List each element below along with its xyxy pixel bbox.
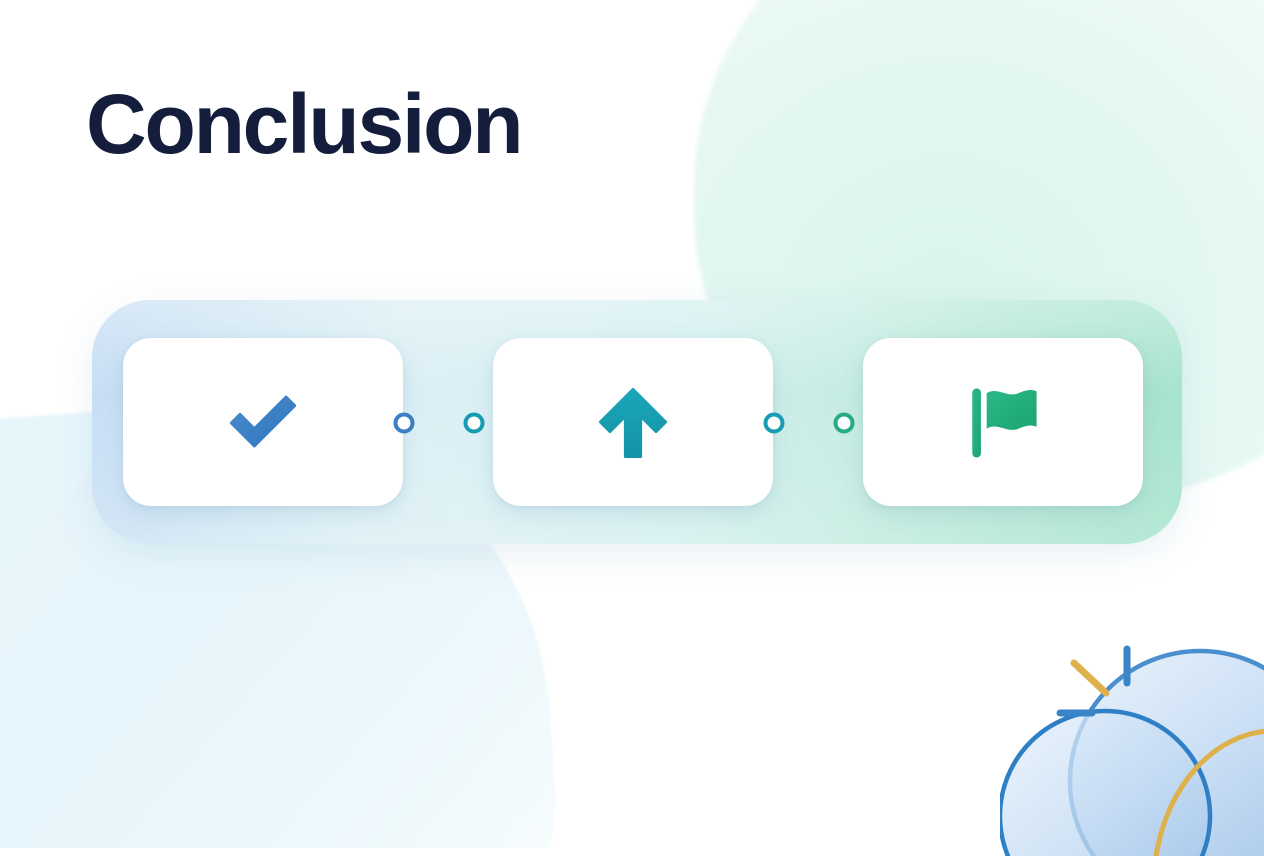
arrow-up-icon (585, 374, 681, 470)
step-card-arrow-up[interactable] (493, 338, 773, 506)
flag-icon (955, 374, 1051, 470)
spark-diagonal-gold-icon (1074, 663, 1106, 693)
connector-step2-step3 (762, 408, 856, 438)
checkmark-icon (215, 374, 311, 470)
step-card-flag[interactable] (863, 338, 1143, 506)
step-card-checkmark[interactable] (123, 338, 403, 506)
connector-step1-step2 (392, 408, 486, 438)
page-title: Conclusion (86, 82, 521, 166)
conclusion-steps-panel (92, 300, 1182, 544)
overlapping-circles-graphic (1000, 631, 1264, 856)
